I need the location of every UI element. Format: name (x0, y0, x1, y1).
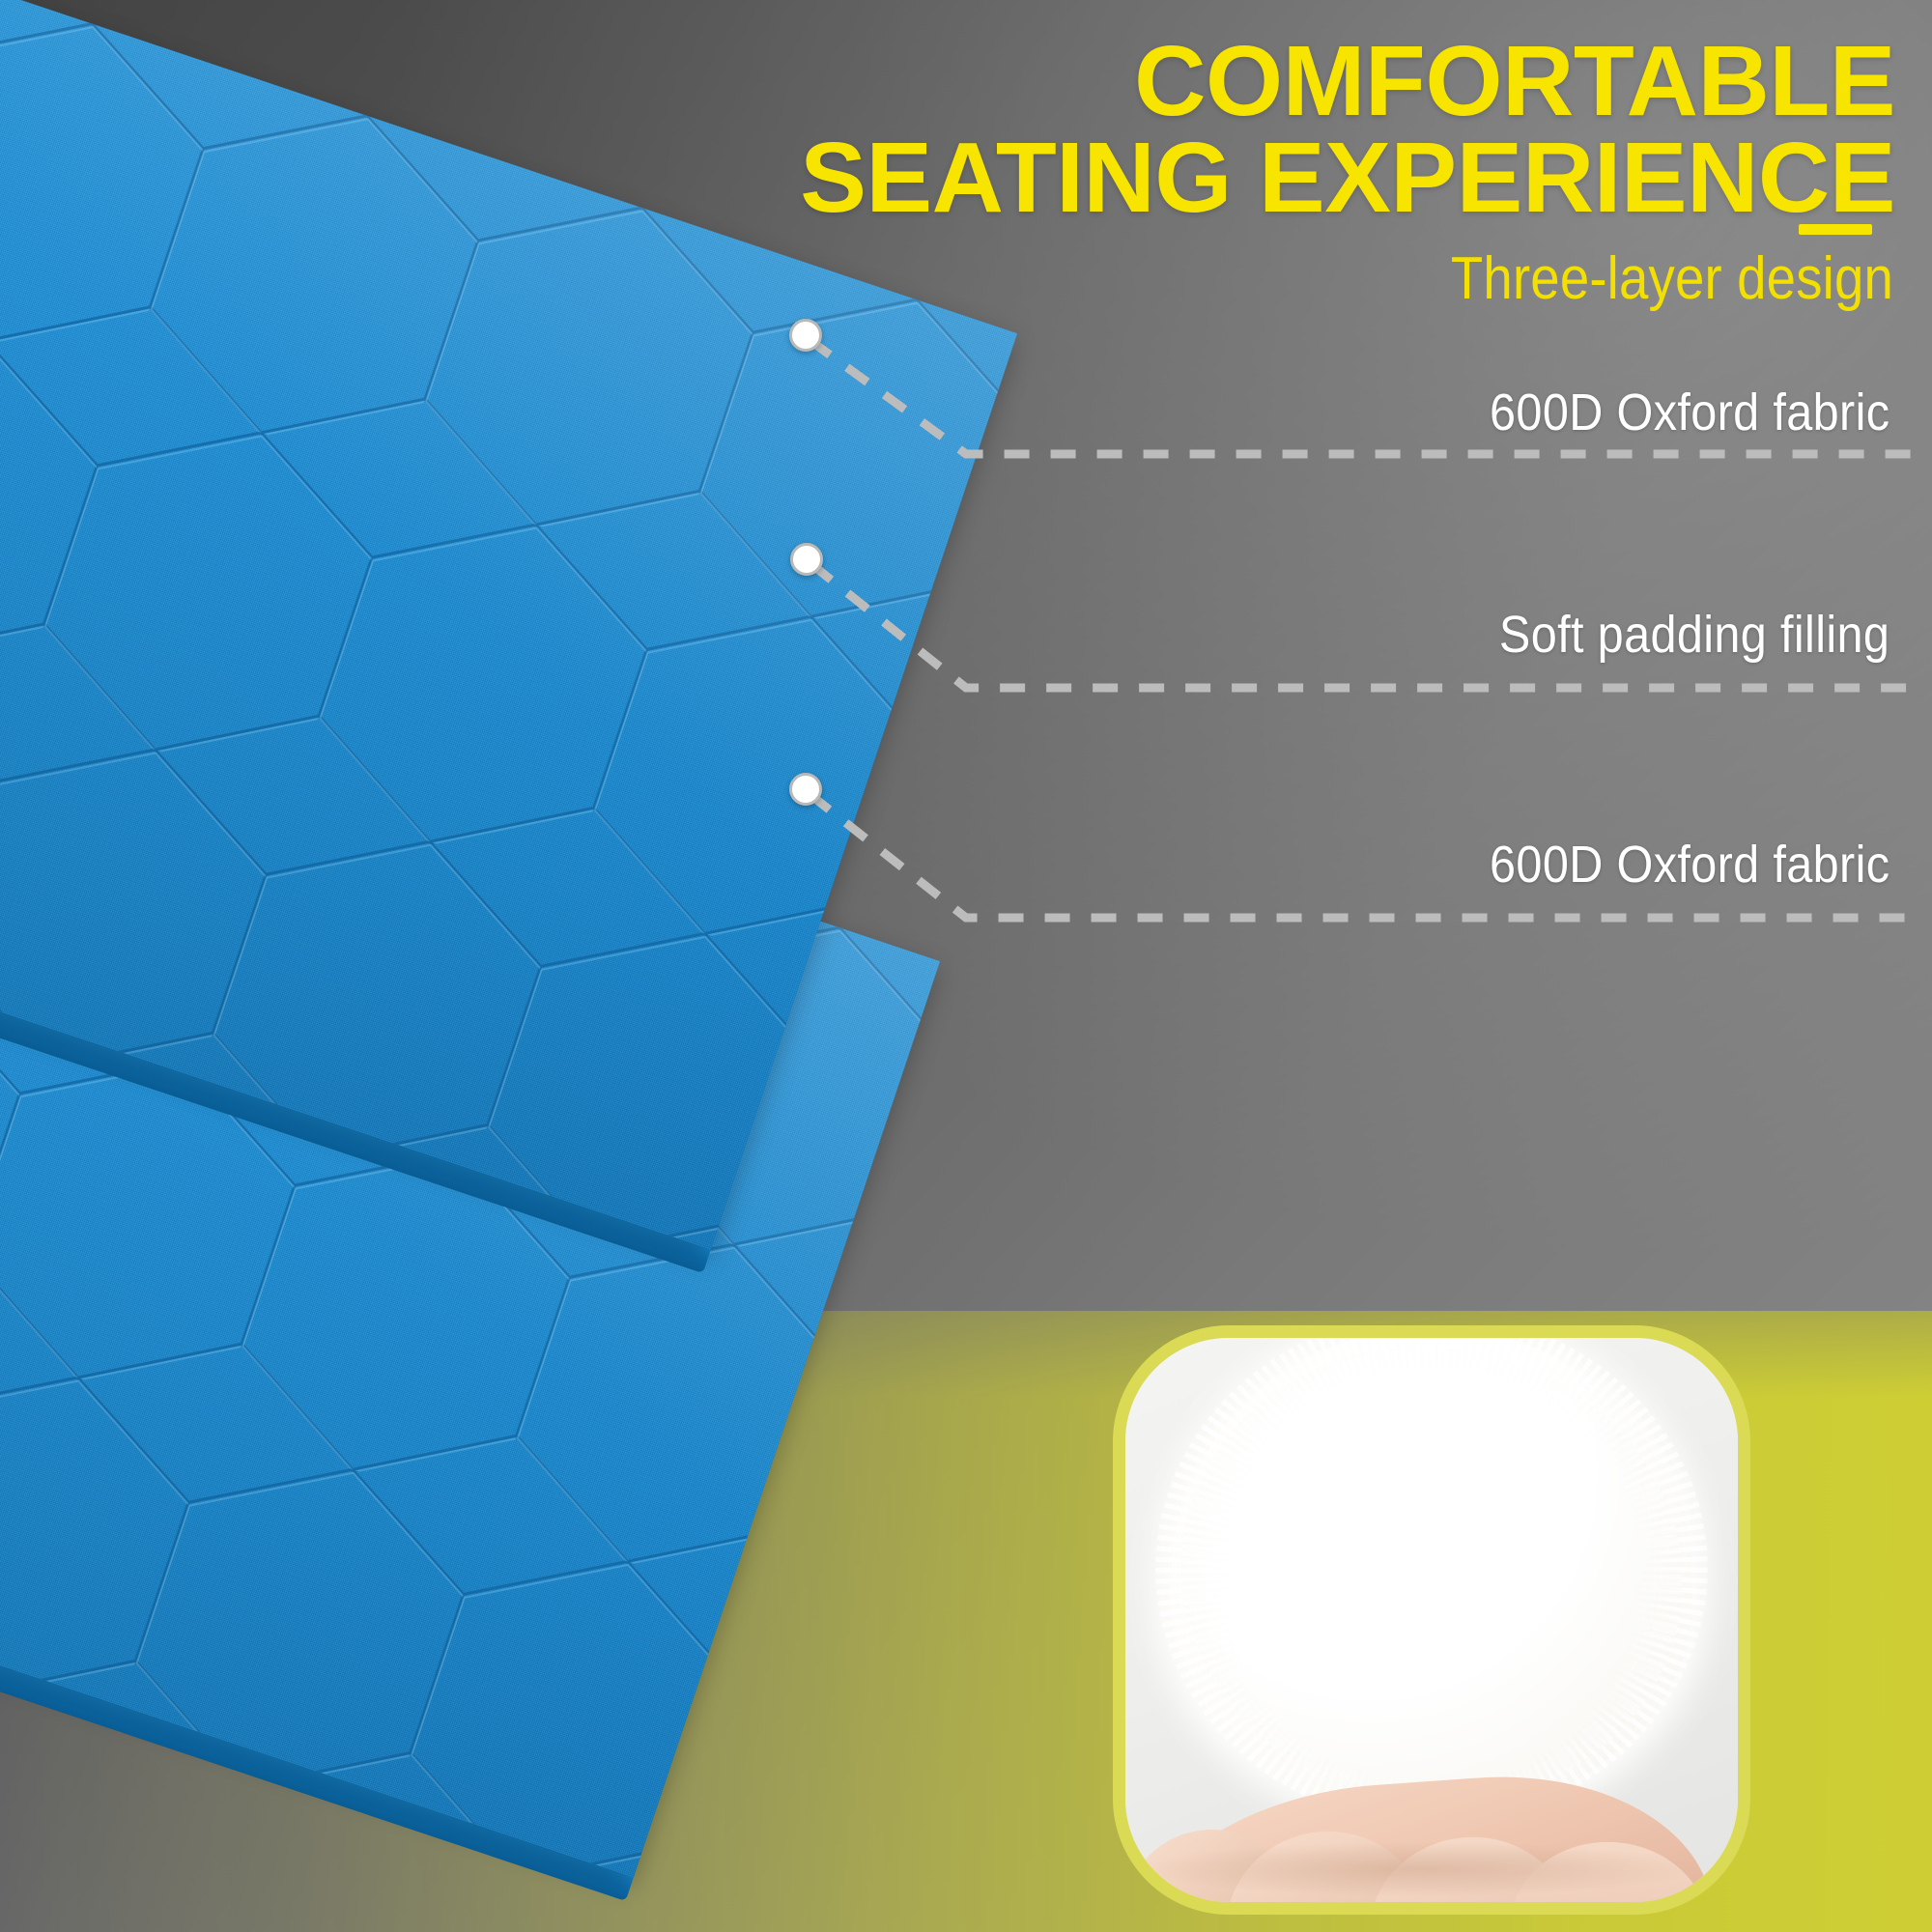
page-subtitle: Three-layer design (873, 247, 1893, 310)
callout-label-bottom-fabric: 600D Oxford fabric (1490, 837, 1889, 894)
callout-label-top-fabric: 600D Oxford fabric (1490, 384, 1889, 441)
callout-dot-top-fabric[interactable] (789, 319, 822, 352)
callout-dot-padding[interactable] (790, 543, 823, 576)
title-line-2: SEATING EXPERIENCE (678, 129, 1895, 226)
hand-holding-fiber (1113, 1733, 1750, 1915)
callout-label-padding: Soft padding filling (1499, 607, 1889, 664)
title-line-1: COMFORTABLE (1134, 25, 1895, 136)
hand-shadow (1142, 1842, 1697, 1897)
callout-dot-bottom-fabric[interactable] (789, 773, 822, 806)
page-title: COMFORTABLE SEATING EXPERIENCE (678, 33, 1895, 226)
infographic-canvas: 600D Oxford fabric Soft padding filling … (0, 0, 1932, 1932)
title-underline-accent (1799, 224, 1872, 235)
fiber-filling-photo-inset (1113, 1325, 1750, 1915)
